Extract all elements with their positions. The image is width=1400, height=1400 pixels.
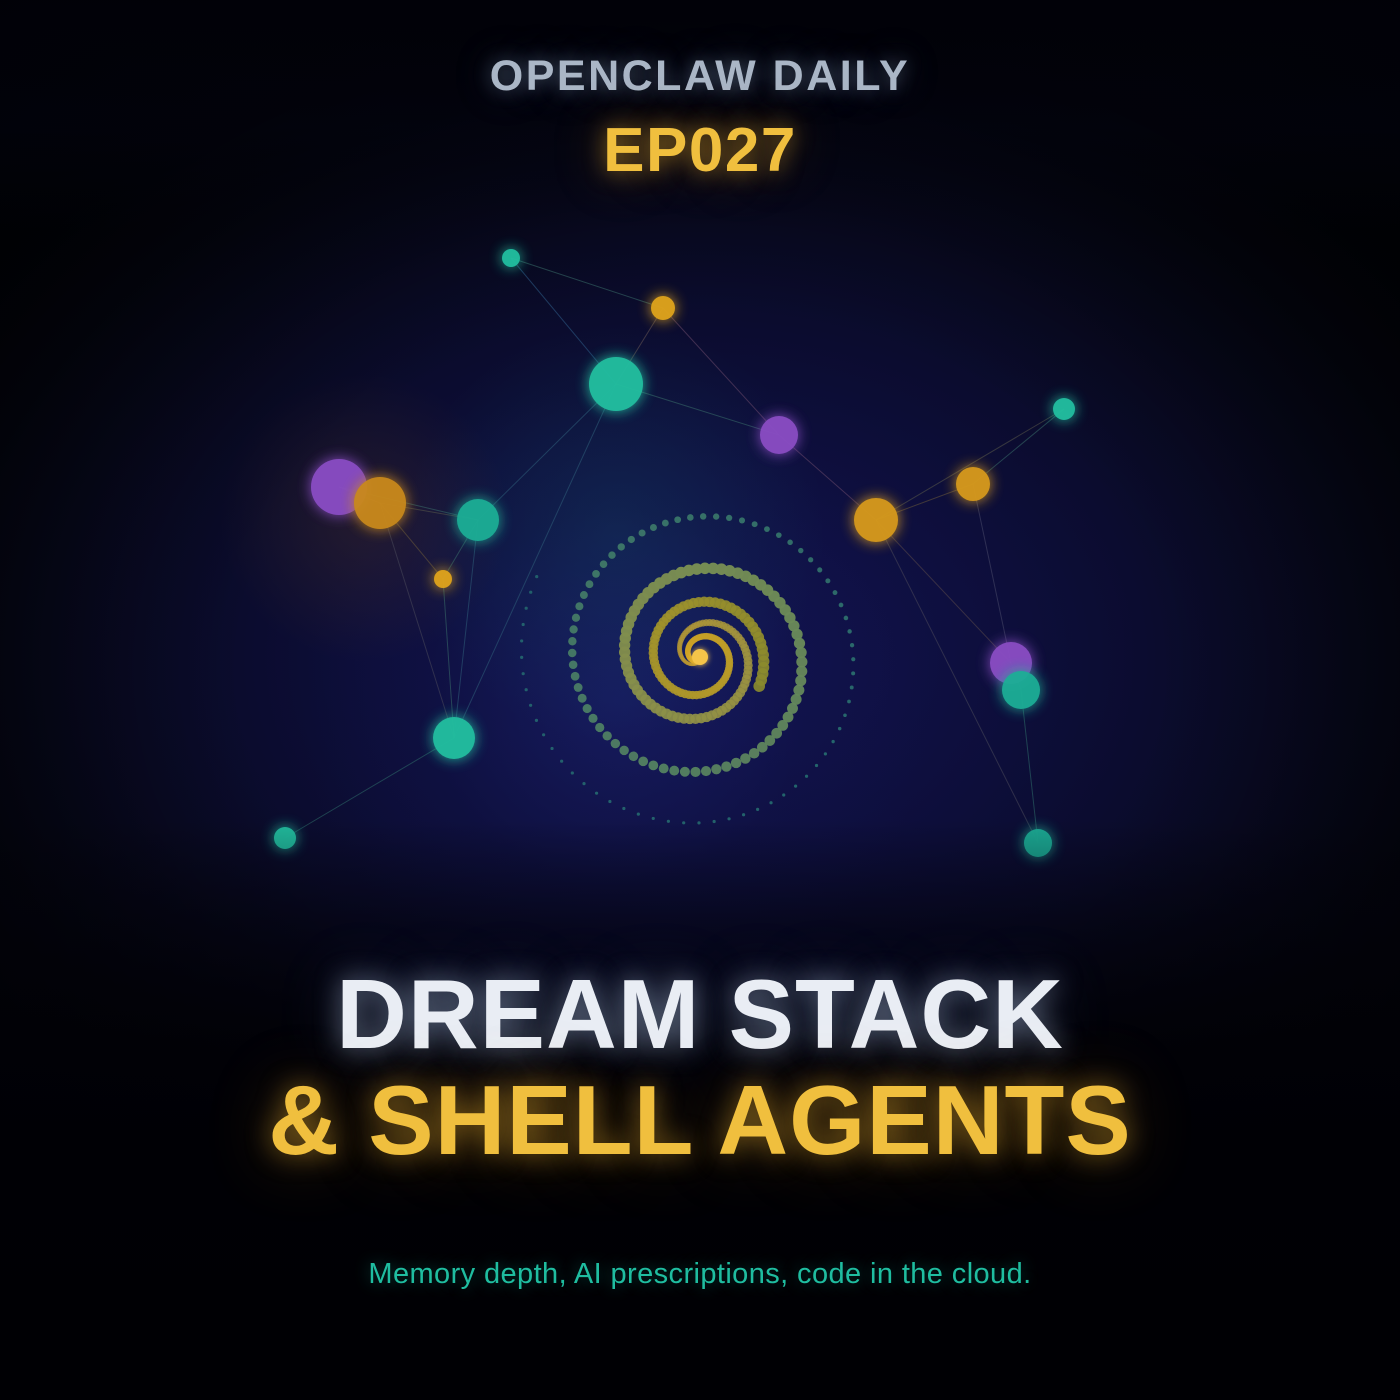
episode-title-block: DREAM STACK & SHELL AGENTS — [0, 962, 1400, 1174]
spiral-dot — [847, 629, 851, 633]
spiral-dot — [740, 753, 751, 764]
spiral-dot — [711, 764, 721, 774]
spiral-dot — [839, 603, 844, 608]
constellation-node — [589, 357, 643, 411]
spiral-dot — [795, 675, 806, 686]
spiral-dot — [726, 515, 732, 521]
spiral-dot-inner — [753, 680, 765, 692]
spiral-dot — [569, 660, 578, 669]
spiral-dot — [843, 713, 847, 717]
constellation-edge — [973, 409, 1064, 484]
spiral-dot — [535, 575, 538, 578]
spiral-dot — [622, 807, 625, 810]
spiral-dots — [520, 513, 855, 824]
spiral-dot — [851, 671, 855, 675]
spiral-dot — [525, 607, 528, 610]
spiral-dot — [838, 727, 841, 730]
spiral-dot — [586, 580, 594, 588]
spiral-dot — [756, 808, 759, 811]
spiral-dot — [574, 683, 583, 692]
spiral-dot — [575, 602, 583, 610]
constellation-node — [434, 570, 452, 588]
spiral-dot — [815, 764, 818, 767]
spiral-dot — [542, 733, 545, 736]
spiral-dot — [550, 747, 553, 750]
spiral-core — [692, 649, 708, 665]
spiral-dot — [793, 685, 804, 696]
constellation-edge — [511, 258, 663, 308]
spiral-dot — [805, 775, 808, 778]
spiral-dot — [782, 793, 785, 796]
spiral-dot — [850, 643, 854, 647]
spiral-dot — [739, 517, 745, 523]
constellation-node — [1053, 398, 1075, 420]
constellation-edge — [973, 484, 1011, 663]
spiral-dot — [701, 766, 711, 776]
spiral-dot — [742, 813, 745, 816]
spiral-dot — [583, 704, 592, 713]
spiral-dot — [831, 740, 834, 743]
spiral-dot — [648, 760, 658, 770]
spiral-dot — [595, 723, 604, 732]
spiral-dot — [603, 731, 612, 740]
spiral-dot — [637, 813, 640, 816]
spiral-dot — [650, 524, 657, 531]
spiral-dot — [794, 785, 797, 788]
episode-title-line-1: DREAM STACK — [0, 962, 1400, 1068]
spiral-dot — [833, 590, 838, 595]
show-name-kicker: OPENCLAW DAILY — [0, 52, 1400, 101]
spiral-dot — [844, 616, 849, 621]
constellation-node — [854, 498, 898, 542]
spiral-dot — [764, 526, 770, 532]
spiral-dot — [731, 758, 741, 768]
spiral-dot — [808, 557, 813, 562]
spiral-dot — [592, 570, 600, 578]
constellation-edge — [876, 520, 1011, 663]
spiral-dot — [628, 536, 635, 543]
spiral-dot — [669, 766, 679, 776]
spiral-dot — [588, 714, 597, 723]
spiral-dot — [787, 540, 793, 546]
spiral-dot — [629, 751, 639, 761]
constellation-node — [354, 477, 406, 529]
spiral-dot — [611, 739, 620, 748]
spiral-dot — [525, 688, 528, 691]
spiral-dot — [769, 801, 772, 804]
episode-title-line-2: & SHELL AGENTS — [0, 1068, 1400, 1174]
spiral-dot — [568, 649, 577, 658]
spiral-dot — [571, 672, 580, 681]
spiral-dot — [580, 591, 588, 599]
spiral-dot — [529, 591, 532, 594]
spiral-dot — [824, 752, 827, 755]
spiral-dot — [851, 657, 855, 661]
spiral-dot — [659, 764, 669, 774]
constellation-edge — [876, 409, 1064, 520]
podcast-cover-poster: OPENCLAW DAILY EP027 DREAM STACK & SHELL… — [0, 0, 1400, 1400]
spiral-dot — [674, 516, 681, 523]
spiral-dot — [578, 694, 587, 703]
spiral-dot — [639, 529, 646, 536]
spiral-dot — [522, 623, 525, 626]
spiral-dot — [752, 521, 758, 527]
spiral-dot — [721, 761, 731, 771]
spiral-dot — [569, 625, 577, 633]
spiral-dot — [798, 548, 803, 553]
spiral-dot — [608, 551, 615, 558]
spiral-dot — [520, 656, 523, 659]
spiral-dot — [535, 719, 538, 722]
episode-number: EP027 — [0, 115, 1400, 186]
episode-subtitle: Memory depth, AI prescriptions, code in … — [0, 1258, 1400, 1291]
spiral-dot — [847, 700, 851, 704]
constellation-edge — [663, 308, 779, 435]
constellation-edge — [380, 503, 454, 738]
spiral-dot — [522, 672, 525, 675]
constellation-edge — [454, 520, 478, 738]
spiral-dot — [825, 578, 830, 583]
spiral-dot — [638, 756, 648, 766]
spiral-dot — [600, 560, 608, 568]
spiral-dot — [568, 637, 576, 645]
spiral-dot — [520, 639, 523, 642]
spiral-dot — [680, 767, 690, 777]
spiral-dot — [572, 614, 580, 622]
spiral-dot — [690, 767, 700, 777]
spiral-dot — [529, 704, 532, 707]
spiral-dot — [595, 792, 598, 795]
constellation-edge — [443, 579, 454, 738]
constellation-node — [956, 467, 990, 501]
spiral-dot — [749, 748, 760, 759]
spiral-dot — [608, 800, 611, 803]
constellation-node — [433, 717, 475, 759]
spiral-dot — [700, 513, 706, 519]
constellation-edge — [478, 384, 616, 520]
spiral-dot — [618, 543, 625, 550]
spiral-dot — [796, 666, 807, 677]
constellation-node — [651, 296, 675, 320]
spiral-dot — [776, 532, 782, 538]
constellation-edges — [285, 258, 1064, 843]
spiral-dot — [713, 513, 719, 519]
spiral-dot — [817, 567, 822, 572]
spiral-dot — [850, 686, 854, 690]
constellation-node — [1002, 671, 1040, 709]
constellation-edge — [454, 384, 616, 738]
spiral-dot — [619, 746, 629, 756]
spiral-dot — [662, 520, 669, 527]
constellation-node — [457, 499, 499, 541]
spiral-dot — [571, 771, 574, 774]
spiral-dot — [582, 782, 585, 785]
spiral-dot — [560, 760, 563, 763]
constellation-node — [760, 416, 798, 454]
spiral-dot — [687, 514, 694, 521]
constellation-node — [502, 249, 520, 267]
